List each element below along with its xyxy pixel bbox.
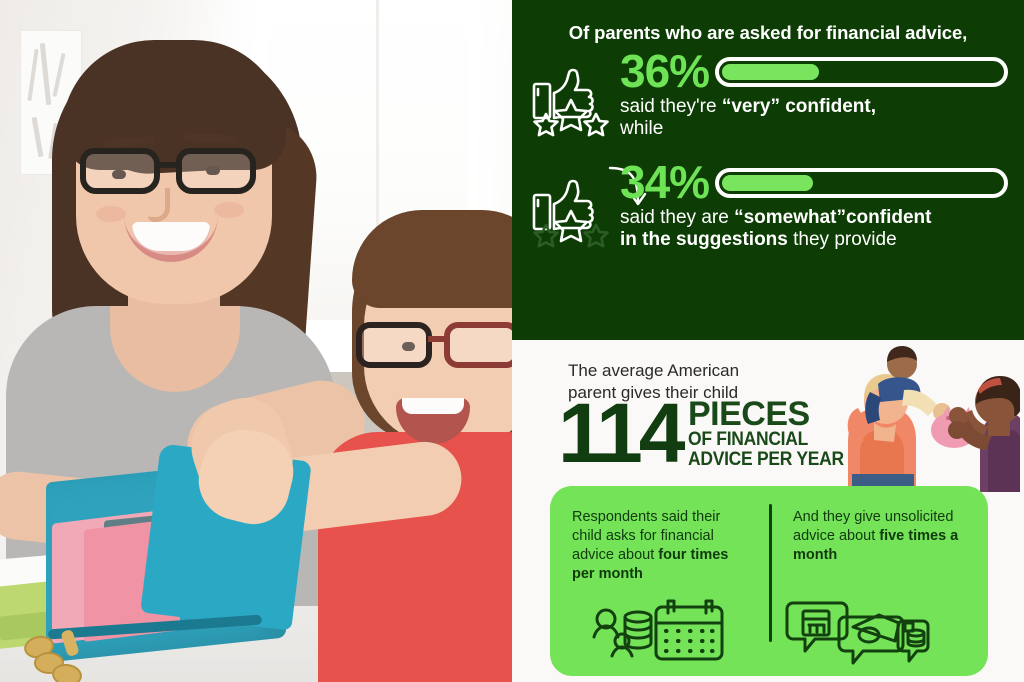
progress-bar-36 [715,57,1008,87]
pieces-sub-line-1: OF FINANCIAL [688,430,844,450]
infographic-root: Of parents who are asked for financial a… [0,0,1024,682]
mother-cheek-right [214,202,244,218]
big-number-114: 114 [558,400,682,467]
stat-headline-row: 36% [620,50,1008,94]
stat-percent-36: 36% [620,50,709,94]
stat-caption-plain: said they're [620,96,722,117]
stat-caption-plain: said they are [620,207,734,228]
stat-caption-plain-2: they provide [793,229,897,250]
mother-cheek-left [96,206,126,222]
frequency-card-left: Respondents said their child asks for fi… [550,486,767,676]
stat-caption-bold: “somewhat”confident [734,207,931,228]
stat-caption-very-confident: said they're “very” confident, [620,96,1008,118]
child-lens-right [444,322,512,368]
confidence-panel: Of parents who are asked for financial a… [512,0,1024,340]
pieces-sub-line-2: ADVICE PER YEAR [688,450,844,470]
stat-body-very-confident: 36% said they're “very” confident, while [620,50,1008,140]
panel-headline: Of parents who are asked for financial a… [528,22,1008,44]
unsolicited-advice-text: And they give unsolicited advice about f… [793,508,970,565]
frequency-card: Respondents said their child asks for fi… [550,486,988,676]
child-asks-text: Respondents said their child asks for fi… [572,508,749,585]
progress-bar-fill [722,175,813,191]
stat-caption-somewhat-line2: in the suggestions they provide [620,229,1008,251]
stat-caption-somewhat-line1: said they are “somewhat”confident [620,207,1008,229]
mother-lens-right [176,148,256,194]
advice-panel: The average American parent gives their … [512,340,1024,682]
thumbs-up-three-stars-icon [528,50,620,147]
stat-row-somewhat-confident: 34% said they are “somewhat”confident in… [528,161,1008,258]
people-coins-calendar-icon [590,593,730,670]
stat-caption-bold-2: in the suggestions [620,229,793,250]
stat-caption-bold: “very” confident, [722,96,876,117]
frequency-card-right: And they give unsolicited advice about f… [767,486,988,676]
infographic-column: Of parents who are asked for financial a… [512,0,1024,682]
average-line-1: The average American [568,360,739,382]
hero-photo [0,0,512,682]
stat-body-somewhat-confident: 34% said they are “somewhat”confident in… [620,161,1008,252]
stat-headline-row: 34% [620,161,1008,205]
connector-while: while [620,118,1008,140]
child-glasses [356,322,512,370]
stat-percent-34: 34% [620,161,709,205]
thumbs-up-one-star-icon [528,161,620,258]
stat-row-very-confident: 36% said they're “very” confident, while [528,50,1008,147]
child-lens-left [356,322,432,368]
mother-glasses [80,148,270,196]
speech-bubbles-money-icon [783,589,933,670]
progress-bar-34 [715,168,1008,198]
progress-bar-fill [722,64,819,80]
family-with-piggy-bank-illustration [830,346,1020,492]
